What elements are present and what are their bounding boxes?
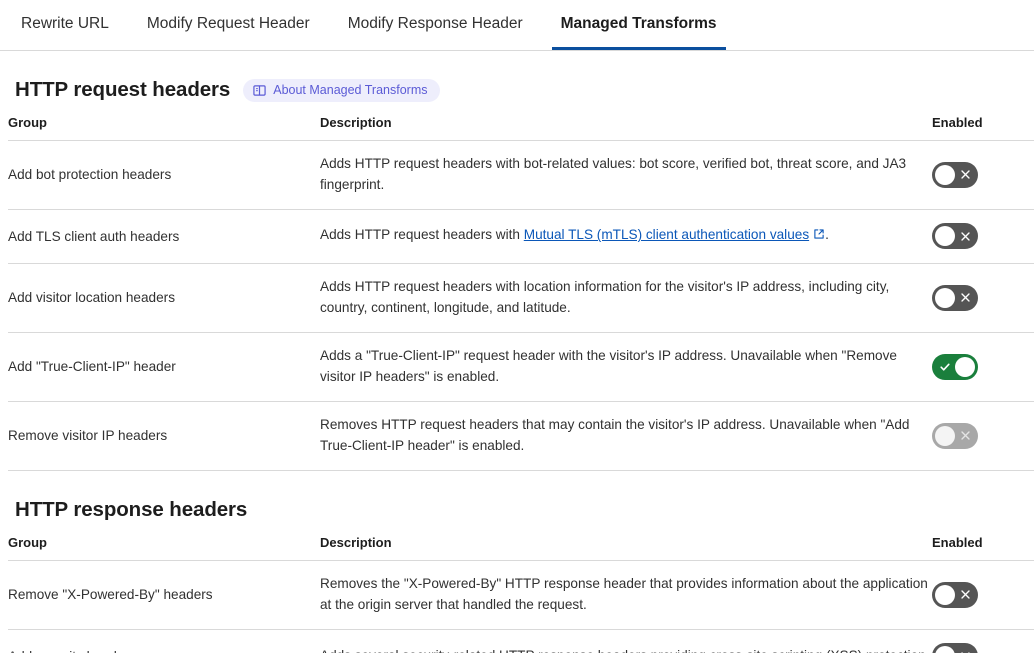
row-description: Adds HTTP request headers with Mutual TL… (320, 225, 932, 247)
toggle-add-visitor-location-headers[interactable] (932, 285, 978, 311)
row-description: Adds a "True-Client-IP" request header w… (320, 346, 932, 387)
toggle-remove-x-powered-by-headers[interactable] (932, 582, 978, 608)
section-header: HTTP request headers About Managed Trans… (15, 78, 1026, 102)
section-http-response-headers: HTTP response headers Group Description … (0, 498, 1034, 653)
row-description: Removes HTTP request headers that may co… (320, 415, 932, 456)
table-row: Add bot protection headers Adds HTTP req… (8, 141, 1034, 210)
tab-managed-transforms[interactable]: Managed Transforms (561, 0, 717, 49)
row-description: Adds HTTP request headers with location … (320, 277, 932, 318)
external-link-icon[interactable] (813, 226, 825, 247)
row-group-label: Remove visitor IP headers (8, 426, 320, 445)
row-description: Removes the "X-Powered-By" HTTP response… (320, 574, 932, 615)
table-header-row: Group Description Enabled (8, 535, 1034, 561)
toggle-knob (935, 585, 955, 605)
toggle-knob (935, 426, 955, 446)
toggle-remove-visitor-ip-headers (932, 423, 978, 449)
table-row: Remove visitor IP headers Removes HTTP r… (8, 402, 1034, 471)
toggle-knob (955, 357, 975, 377)
table-row: Remove "X-Powered-By" headers Removes th… (8, 561, 1034, 630)
row-group-label: Add "True-Client-IP" header (8, 357, 320, 376)
section-http-request-headers: HTTP request headers About Managed Trans… (0, 78, 1034, 471)
column-header-description: Description (320, 115, 932, 141)
close-icon (958, 582, 972, 608)
close-icon (958, 285, 972, 311)
toggle-knob (935, 165, 955, 185)
tab-bar: Rewrite URL Modify Request Header Modify… (0, 0, 1034, 51)
request-headers-table: Group Description Enabled Add bot protec… (8, 115, 1034, 471)
toggle-knob (935, 288, 955, 308)
table-row: Add visitor location headers Adds HTTP r… (8, 264, 1034, 333)
table-header-row: Group Description Enabled (8, 115, 1034, 141)
close-icon (958, 643, 972, 653)
tab-rewrite-url[interactable]: Rewrite URL (21, 0, 109, 49)
description-text-after: . (825, 227, 829, 242)
column-header-group: Group (8, 535, 320, 561)
row-description: Adds HTTP request headers with bot-relat… (320, 154, 932, 195)
page-title: HTTP request headers (15, 78, 230, 102)
description-text-before: Adds HTTP request headers with (320, 227, 524, 242)
toggle-add-tls-client-auth-headers[interactable] (932, 223, 978, 249)
tab-modify-response-header[interactable]: Modify Response Header (348, 0, 523, 49)
response-headers-table: Group Description Enabled Remove "X-Powe… (8, 535, 1034, 653)
column-header-group: Group (8, 115, 320, 141)
check-icon (938, 354, 952, 380)
toggle-knob (935, 646, 955, 653)
toggle-add-bot-protection-headers[interactable] (932, 162, 978, 188)
row-group-label: Add TLS client auth headers (8, 227, 320, 246)
table-row: Add "True-Client-IP" header Adds a "True… (8, 333, 1034, 402)
close-icon (958, 162, 972, 188)
toggle-knob (935, 226, 955, 246)
tab-modify-request-header[interactable]: Modify Request Header (147, 0, 310, 49)
about-badge-label: About Managed Transforms (273, 83, 427, 98)
close-icon (958, 223, 972, 249)
toggle-add-true-client-ip-header[interactable] (932, 354, 978, 380)
row-group-label: Add bot protection headers (8, 165, 320, 184)
column-header-description: Description (320, 535, 932, 561)
table-row: Add security headers Adds several securi… (8, 630, 1034, 653)
section-header: HTTP response headers (15, 498, 1026, 522)
section-title-response: HTTP response headers (15, 498, 247, 522)
book-icon (253, 84, 266, 97)
table-row: Add TLS client auth headers Adds HTTP re… (8, 210, 1034, 264)
column-header-enabled: Enabled (932, 535, 1034, 561)
row-group-label: Remove "X-Powered-By" headers (8, 585, 320, 604)
toggle-add-security-headers[interactable] (932, 643, 978, 653)
row-group-label: Add visitor location headers (8, 288, 320, 307)
row-group-label: Add security headers (8, 647, 320, 653)
about-managed-transforms-badge[interactable]: About Managed Transforms (243, 79, 440, 102)
mtls-docs-link[interactable]: Mutual TLS (mTLS) client authentication … (524, 227, 809, 242)
row-description: Adds several security-related HTTP respo… (320, 646, 932, 653)
column-header-enabled: Enabled (932, 115, 1034, 141)
close-icon (958, 423, 972, 449)
